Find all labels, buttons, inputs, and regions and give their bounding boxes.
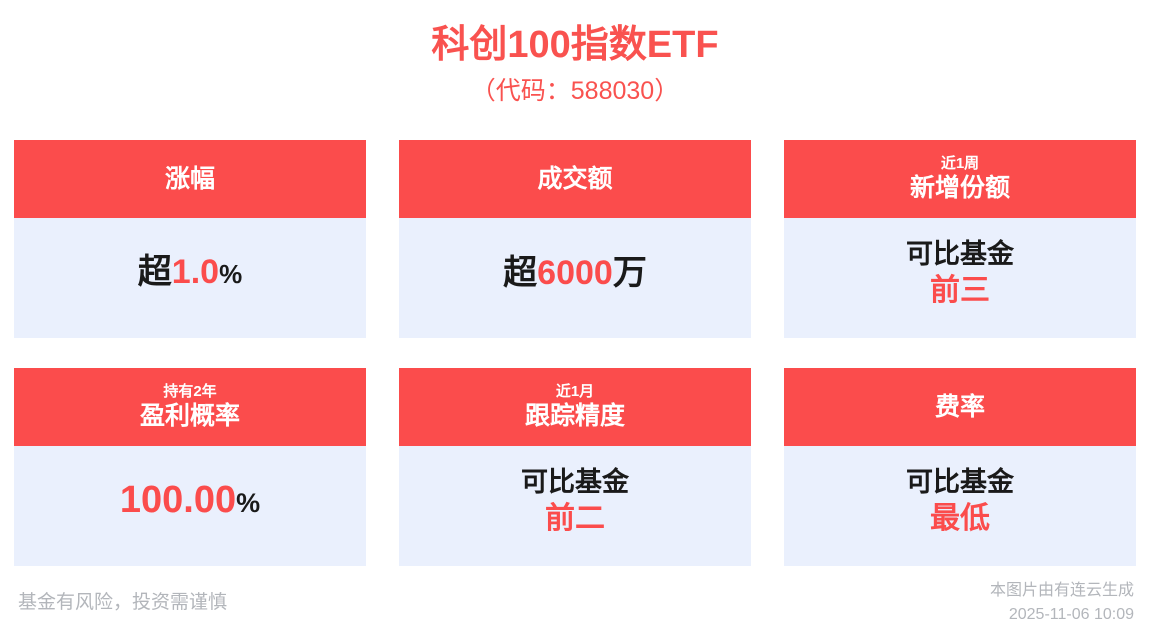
- card-body-profit-probability: 100.00%: [14, 446, 366, 566]
- card-header-main-label: 成交额: [537, 162, 612, 196]
- metric-suffix: %: [236, 488, 260, 518]
- card-header-main-label: 费率: [935, 390, 985, 424]
- card-body-change: 超1.0%: [14, 218, 366, 338]
- metric-value-profit-probability: 100.00%: [120, 478, 260, 525]
- metric-card-grid: 涨幅 超1.0% 成交额 超6000万 近1周: [14, 140, 1136, 566]
- metric-card-turnover: 成交额 超6000万: [399, 140, 751, 338]
- comparison-rank-value: 最低: [930, 500, 990, 538]
- metric-value-change: 超1.0%: [138, 250, 242, 296]
- metric-number: 100.00: [120, 479, 236, 521]
- card-body-new-shares: 可比基金 前三: [784, 218, 1136, 338]
- card-header-sub-label: 近1月: [556, 382, 594, 401]
- risk-disclaimer: 基金有风险，投资需谨慎: [18, 590, 227, 616]
- comparison-rank-value: 前三: [930, 272, 990, 310]
- comparison-scope-label: 可比基金: [906, 236, 1014, 272]
- card-header-turnover: 成交额: [399, 140, 751, 218]
- comparison-scope-label: 可比基金: [521, 464, 629, 500]
- metric-prefix: 超: [138, 253, 172, 291]
- card-header-sub-label: 持有2年: [163, 382, 216, 401]
- metric-card-new-shares: 近1周 新增份额 可比基金 前三: [784, 140, 1136, 338]
- card-header-main-label: 跟踪精度: [525, 401, 625, 432]
- metric-suffix: %: [219, 259, 242, 289]
- card-header-fee-rate: 费率: [784, 368, 1136, 446]
- card-header-tracking-accuracy: 近1月 跟踪精度: [399, 368, 751, 446]
- metric-value-turnover: 超6000万: [503, 251, 647, 295]
- card-body-turnover: 超6000万: [399, 218, 751, 338]
- card-header-main-label: 涨幅: [165, 162, 215, 196]
- card-body-tracking-accuracy: 可比基金 前二: [399, 446, 751, 566]
- card-header-main-label: 新增份额: [910, 173, 1010, 204]
- metric-card-fee-rate: 费率 可比基金 最低: [784, 368, 1136, 566]
- metric-card-profit-probability: 持有2年 盈利概率 100.00%: [14, 368, 366, 566]
- comparison-rank-value: 前二: [545, 500, 605, 538]
- card-header-sub-label: 近1周: [941, 154, 979, 173]
- page-footer: 基金有风险，投资需谨慎 本图片由有连云生成 2025-11-06 10:09: [0, 578, 1150, 632]
- card-header-profit-probability: 持有2年 盈利概率: [14, 368, 366, 446]
- page-header: 科创100指数ETF （代码：588030）: [0, 0, 1150, 108]
- metric-suffix: 万: [613, 254, 647, 292]
- metric-number: 1.0: [172, 253, 219, 291]
- generation-timestamp: 2025-11-06 10:09: [990, 603, 1134, 627]
- card-body-fee-rate: 可比基金 最低: [784, 446, 1136, 566]
- generation-credit: 本图片由有连云生成 2025-11-06 10:09: [990, 579, 1134, 627]
- card-header-change: 涨幅: [14, 140, 366, 218]
- card-header-new-shares: 近1周 新增份额: [784, 140, 1136, 218]
- etf-infographic-page: 科创100指数ETF （代码：588030） 涨幅 超1.0% 成交额: [0, 0, 1150, 632]
- generation-source-label: 本图片由有连云生成: [990, 579, 1134, 603]
- comparison-scope-label: 可比基金: [906, 464, 1014, 500]
- metric-prefix: 超: [503, 254, 537, 292]
- card-header-main-label: 盈利概率: [140, 401, 240, 432]
- page-subtitle-code: （代码：588030）: [0, 74, 1150, 108]
- metric-card-tracking-accuracy: 近1月 跟踪精度 可比基金 前二: [399, 368, 751, 566]
- metric-number: 6000: [537, 254, 613, 292]
- metric-card-change: 涨幅 超1.0%: [14, 140, 366, 338]
- page-title: 科创100指数ETF: [0, 22, 1150, 68]
